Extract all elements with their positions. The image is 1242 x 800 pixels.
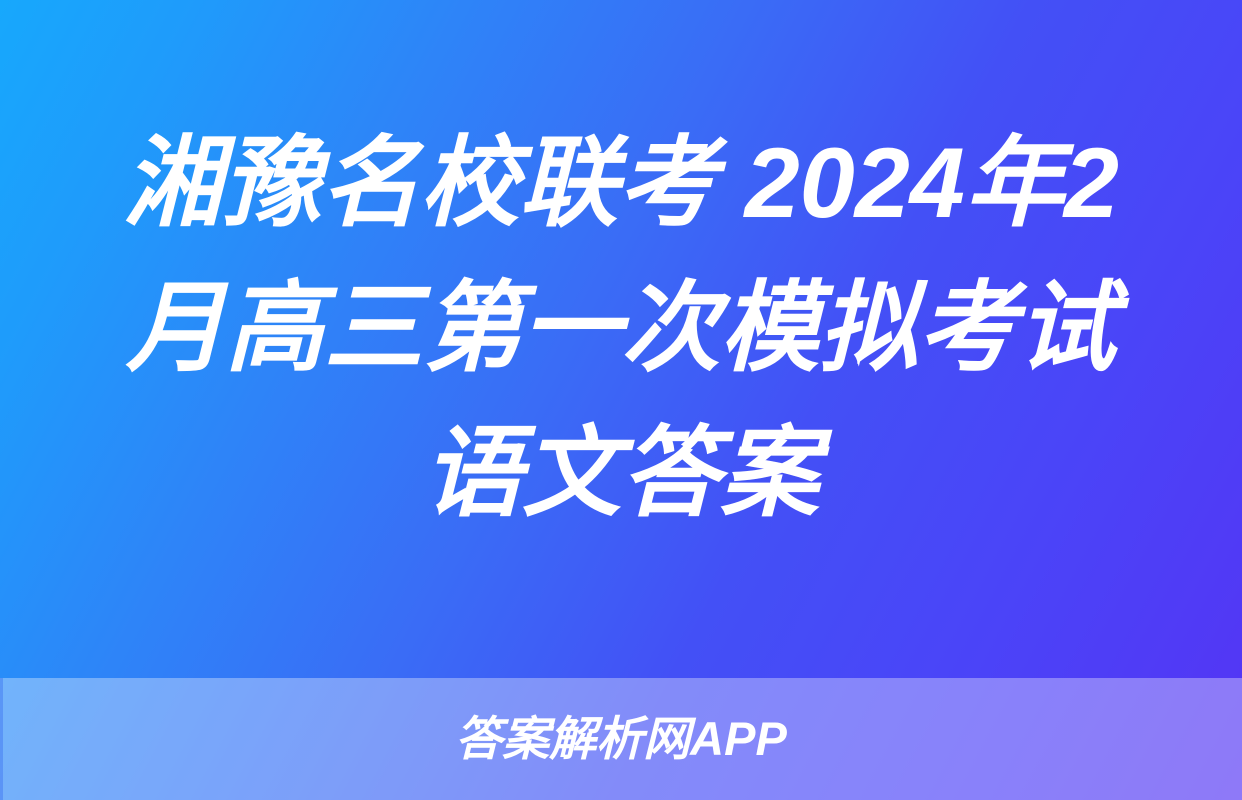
headline-block: 湘豫名校联考 2024年2月高三第一次模拟考试语文答案 [0, 0, 1242, 678]
app-watermark-label: 答案解析网APP [455, 711, 787, 767]
page-title: 湘豫名校联考 2024年2月高三第一次模拟考试语文答案 [78, 110, 1164, 545]
footer-watermark-band: 答案解析网APP [0, 678, 1242, 800]
band-left-edge-accent [0, 678, 3, 800]
answer-poster: 湘豫名校联考 2024年2月高三第一次模拟考试语文答案 答案解析网APP [0, 0, 1242, 800]
